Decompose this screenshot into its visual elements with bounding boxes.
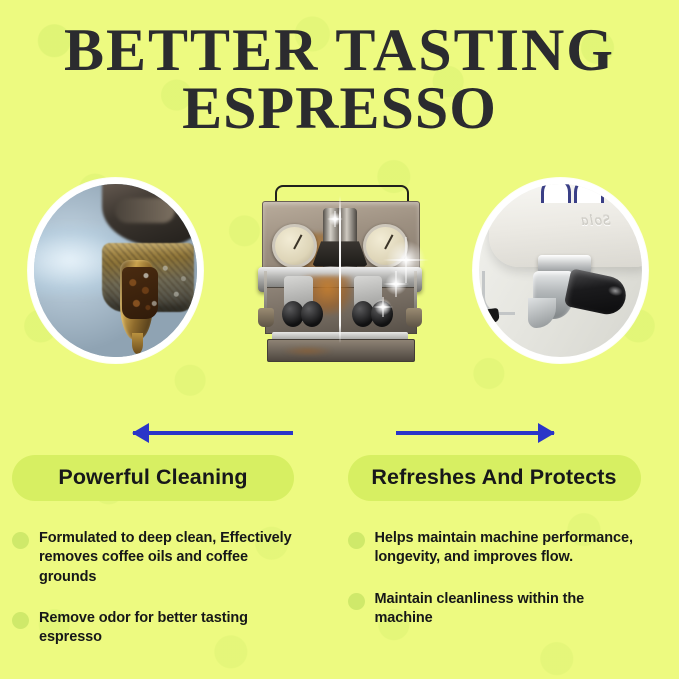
clean-group-head-bubble: Sola [473, 178, 648, 363]
benefit-point-text: Helps maintain machine performance, long… [375, 529, 640, 568]
benefit-list-2: Helps maintain machine performance, long… [348, 529, 668, 628]
dirty-group-head-bubble [28, 178, 203, 363]
coffee-stain [283, 346, 333, 356]
brand-mark: Sola [580, 213, 611, 230]
before-after-divider [339, 196, 341, 343]
benefits-section: Powerful Cleaning Formulated to deep cle… [0, 455, 679, 655]
benefit-point-text: Maintain cleanliness within the machine [375, 590, 640, 629]
benefit-list-1: Formulated to deep clean, Effectively re… [12, 529, 326, 647]
bullet-dot-icon [348, 532, 365, 549]
benefit-point-text: Remove odor for better tasting espresso [39, 609, 307, 648]
dirty-scene [34, 184, 197, 357]
machine-knob [371, 301, 393, 327]
benefit-title-badge-1: Powerful Cleaning [12, 455, 294, 501]
steam-wand-tip [480, 307, 500, 323]
steam-wand [414, 271, 417, 313]
pressure-gauge [363, 224, 408, 269]
portafilter-spout [528, 298, 556, 327]
headline-line-2: ESPRESSO [0, 80, 679, 138]
benefit-column-powerful-cleaning: Powerful Cleaning Formulated to deep cle… [0, 455, 340, 655]
coffee-drip [132, 333, 143, 354]
limescale-grime [135, 257, 190, 319]
bullet-dot-icon [348, 593, 365, 610]
benefit-point-text: Formulated to deep clean, Effectively re… [39, 529, 307, 587]
hero-comparison-band: Sola [0, 160, 679, 385]
clean-group-head-image: Sola [479, 184, 642, 357]
infographic-canvas: BETTER TASTING ESPRESSO [0, 0, 679, 679]
dirty-group-head-image [34, 184, 197, 357]
list-item: Remove odor for better tasting espresso [12, 609, 326, 648]
pressure-gauge [272, 224, 317, 269]
arrow-head [132, 423, 149, 443]
pressure-dial-icon [574, 184, 604, 203]
machine-knob [301, 301, 323, 327]
list-item: Formulated to deep clean, Effectively re… [12, 529, 326, 587]
pressure-dial-icon [541, 184, 571, 203]
benefit-title-badge-2: Refreshes And Protects [348, 455, 641, 501]
clean-scene: Sola [479, 184, 642, 357]
steam-wand [264, 271, 267, 313]
list-item: Helps maintain machine performance, long… [348, 529, 668, 568]
headline-line-1: BETTER TASTING [0, 22, 679, 80]
steam-wand-tip [258, 308, 273, 327]
steam-wand-tip [406, 308, 421, 327]
benefit-column-refreshes-and-protects: Refreshes And Protects Helps maintain ma… [340, 455, 679, 655]
portafilter-handle [564, 268, 629, 317]
arrow-head [538, 423, 555, 443]
arrow-shaft [133, 431, 293, 435]
arrow-shaft [396, 431, 554, 435]
bullet-dot-icon [12, 532, 29, 549]
espresso-machine-image [255, 185, 425, 360]
list-item: Maintain cleanliness within the machine [348, 590, 668, 629]
bullet-dot-icon [12, 612, 29, 629]
page-title: BETTER TASTING ESPRESSO [0, 22, 679, 137]
